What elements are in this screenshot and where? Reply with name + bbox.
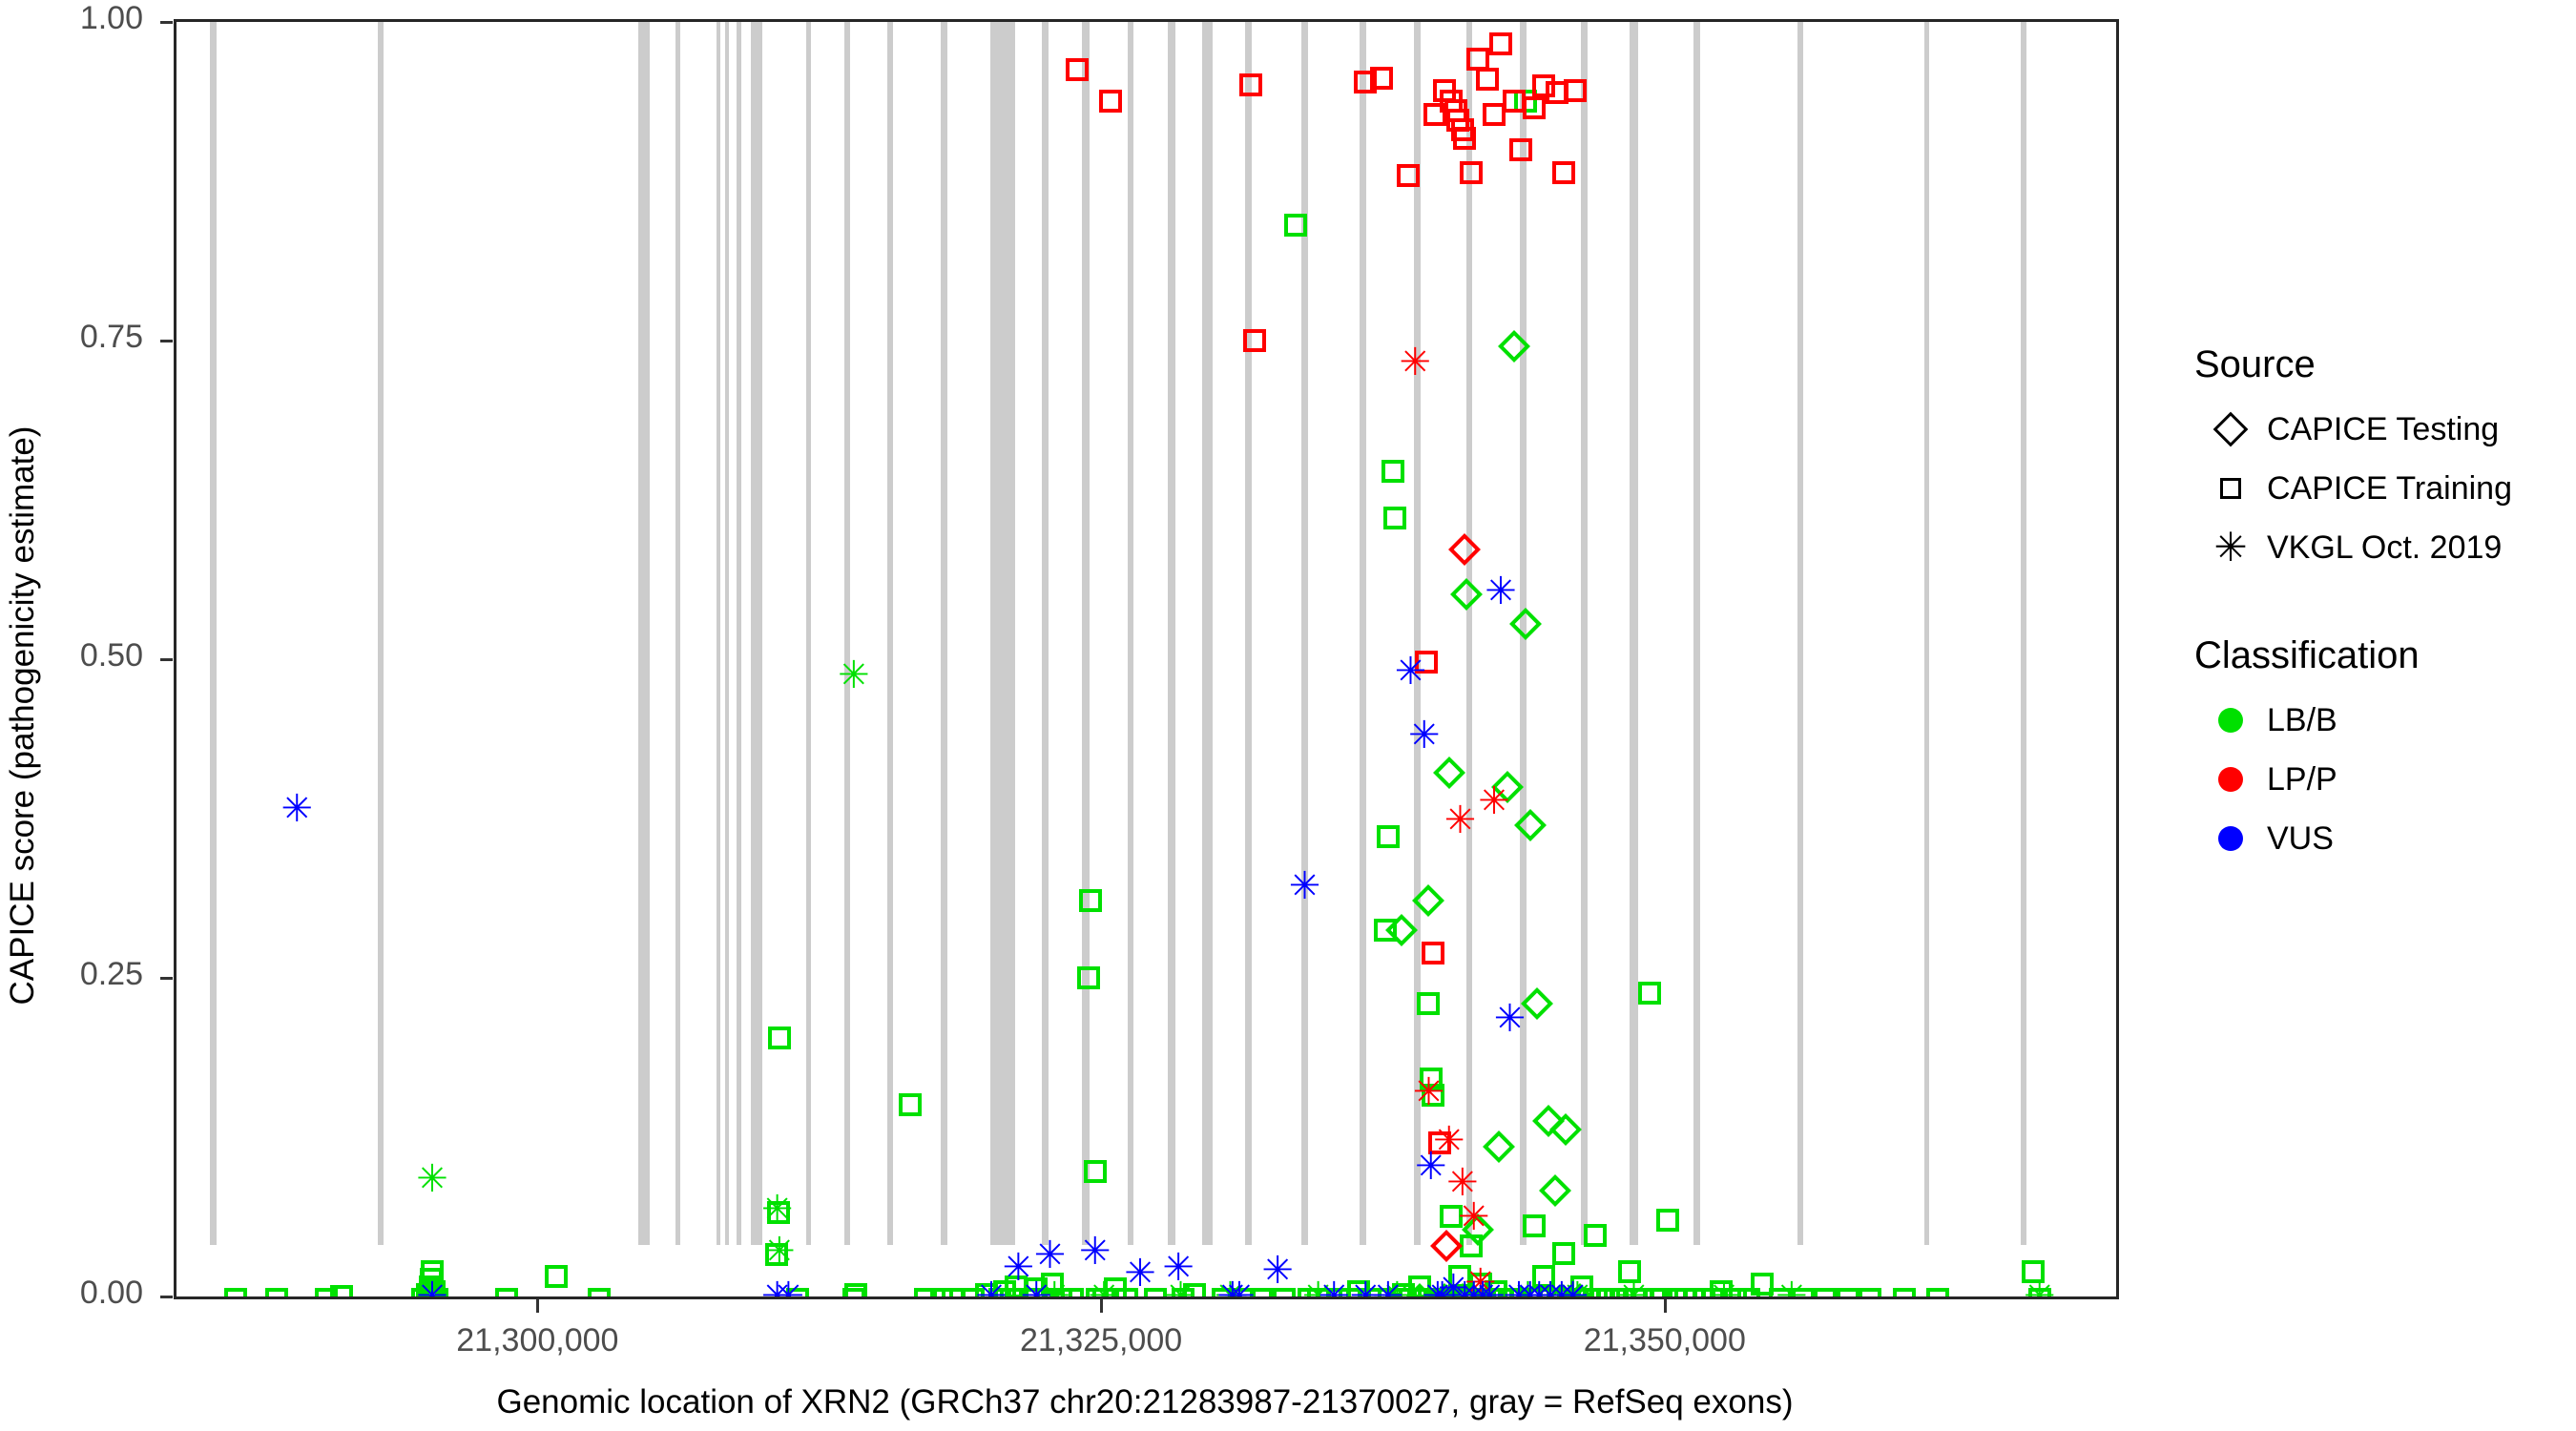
y-tick-label: 0.75 xyxy=(0,319,143,356)
legend-item-source[interactable]: ✳VKGL Oct. 2019 xyxy=(2194,518,2576,577)
point-asterisk: ✳ xyxy=(760,1233,799,1271)
x-tick-label: 21,350,000 xyxy=(1522,1322,1808,1359)
point-diamond xyxy=(1448,533,1481,566)
legend-key xyxy=(2194,478,2267,499)
point-square xyxy=(1284,214,1307,237)
legend-item-label: VKGL Oct. 2019 xyxy=(2267,529,2502,567)
point-asterisk: ✳ xyxy=(769,1277,807,1299)
legend-key xyxy=(2194,417,2267,442)
y-tick-mark xyxy=(160,977,173,980)
legend-key xyxy=(2194,826,2267,851)
point-square xyxy=(1489,32,1512,55)
legend-item-source[interactable]: CAPICE Training xyxy=(2194,459,2576,518)
point-diamond xyxy=(1433,757,1465,789)
point-square xyxy=(1243,329,1266,352)
point-square xyxy=(1370,67,1393,90)
y-tick-label: 1.00 xyxy=(0,0,143,37)
point-square xyxy=(1453,127,1476,150)
point-asterisk: ✳ xyxy=(1554,1277,1592,1299)
exon-band xyxy=(751,22,762,1245)
point-asterisk: ✳ xyxy=(1441,801,1479,840)
exon-band xyxy=(1202,22,1213,1245)
point-asterisk: ✳ xyxy=(1285,867,1323,905)
point-asterisk: ✳ xyxy=(1614,1277,1652,1299)
exon-band xyxy=(1630,22,1638,1245)
point-square xyxy=(1584,1224,1607,1247)
legend-item-label: CAPICE Testing xyxy=(2267,411,2499,448)
y-axis-title: CAPICE score (pathogenicity estimate) xyxy=(0,0,46,1431)
legend-item-label: LP/P xyxy=(2267,761,2337,798)
legend-item-label: VUS xyxy=(2267,820,2334,858)
point-asterisk: ✳ xyxy=(413,1277,451,1299)
exon-band xyxy=(210,22,217,1245)
color-dot-icon xyxy=(2218,767,2243,792)
point-asterisk: ✳ xyxy=(1412,1148,1450,1186)
x-tick-mark xyxy=(536,1299,539,1313)
exon-band xyxy=(1581,22,1588,1245)
point-asterisk: ✳ xyxy=(758,1191,796,1229)
y-tick-label: 0.50 xyxy=(0,637,143,674)
point-asterisk: ✳ xyxy=(1409,1073,1447,1111)
exon-band xyxy=(844,22,850,1245)
exon-band xyxy=(1360,22,1366,1245)
y-tick-mark xyxy=(160,340,173,342)
x-tick-label: 21,325,000 xyxy=(958,1322,1244,1359)
point-square xyxy=(1476,68,1499,91)
legend-item-classification[interactable]: LB/B xyxy=(2194,691,2576,750)
point-diamond xyxy=(1483,1130,1515,1163)
point-square xyxy=(1638,982,1661,1005)
exon-band xyxy=(1082,22,1090,1245)
point-square xyxy=(224,1288,247,1299)
point-square xyxy=(1383,507,1406,529)
point-asterisk: ✳ xyxy=(1085,1277,1123,1299)
point-square xyxy=(1417,992,1440,1015)
point-square xyxy=(330,1285,353,1299)
y-tick-mark xyxy=(160,1296,173,1298)
point-square xyxy=(1377,825,1400,848)
point-asterisk: ✳ xyxy=(1482,572,1520,611)
exon-band xyxy=(1797,22,1803,1245)
point-square xyxy=(1381,460,1404,483)
point-square xyxy=(1509,138,1532,161)
legend: Source CAPICE TestingCAPICE Training✳VKG… xyxy=(2194,343,2576,868)
legend-item-label: LB/B xyxy=(2267,702,2337,739)
exon-band xyxy=(1466,22,1472,1245)
legend-item-classification[interactable]: VUS xyxy=(2194,809,2576,868)
point-square xyxy=(1814,1288,1837,1299)
point-diamond xyxy=(1514,809,1547,841)
exon-band xyxy=(717,22,720,1245)
point-asterisk: ✳ xyxy=(1773,1277,1811,1299)
point-square xyxy=(1397,164,1420,187)
exon-band xyxy=(1301,22,1307,1245)
legend-spacer xyxy=(2194,577,2576,634)
point-asterisk: ✳ xyxy=(1220,1277,1258,1299)
legend-item-source[interactable]: CAPICE Testing xyxy=(2194,400,2576,459)
point-square xyxy=(1552,161,1575,184)
asterisk-icon: ✳ xyxy=(2213,528,2247,568)
exon-band xyxy=(378,22,384,1245)
exon-band xyxy=(638,22,649,1245)
point-square xyxy=(1460,161,1483,184)
exon-band xyxy=(725,22,729,1245)
x-axis-title: Genomic location of XRN2 (GRCh37 chr20:2… xyxy=(0,1383,2290,1421)
y-tick-label: 0.25 xyxy=(0,956,143,993)
point-asterisk: ✳ xyxy=(1490,1000,1528,1038)
color-dot-icon xyxy=(2218,826,2243,851)
point-square xyxy=(1893,1288,1916,1299)
point-asterisk: ✳ xyxy=(835,656,873,695)
exon-band xyxy=(675,22,681,1245)
point-square xyxy=(1099,90,1122,113)
point-diamond xyxy=(1539,1174,1571,1207)
legend-title-source: Source xyxy=(2194,343,2576,386)
y-tick-mark xyxy=(160,658,173,661)
exon-band xyxy=(1128,22,1133,1245)
x-tick-label: 21,300,000 xyxy=(394,1322,680,1359)
exon-band xyxy=(1168,22,1175,1245)
point-asterisk: ✳ xyxy=(1030,1236,1069,1275)
point-square xyxy=(1564,79,1587,102)
point-square xyxy=(545,1265,568,1288)
legend-key xyxy=(2194,767,2267,792)
point-asterisk: ✳ xyxy=(1475,782,1513,820)
point-asterisk: ✳ xyxy=(413,1160,451,1198)
legend-item-classification[interactable]: LP/P xyxy=(2194,750,2576,809)
y-tick-mark xyxy=(160,21,173,24)
point-square xyxy=(1079,889,1102,912)
plot-panel: ✳✳✳✳✳✳✳✳✳✳✳✳✳✳✳✳✳✳✳✳✳✳✳✳✳✳✳✳✳✳✳✳✳✳✳✳✳✳✳✳… xyxy=(174,19,2119,1299)
point-asterisk: ✳ xyxy=(1017,1277,1055,1299)
point-asterisk: ✳ xyxy=(1455,1198,1493,1236)
point-asterisk: ✳ xyxy=(278,790,316,828)
point-square xyxy=(1656,1209,1679,1232)
point-square xyxy=(588,1288,611,1299)
point-asterisk: ✳ xyxy=(1396,343,1434,382)
exon-band xyxy=(737,22,741,1245)
point-asterisk: ✳ xyxy=(1369,1277,1407,1299)
legend-key xyxy=(2194,708,2267,733)
exon-band xyxy=(1042,22,1049,1245)
point-square xyxy=(1422,942,1444,964)
color-dot-icon xyxy=(2218,708,2243,733)
point-square xyxy=(1077,966,1100,989)
exon-band xyxy=(1414,22,1421,1245)
point-asterisk: ✳ xyxy=(2021,1277,2059,1299)
legend-key: ✳ xyxy=(2194,528,2267,568)
chart-root: CAPICE score (pathogenicity estimate) 0.… xyxy=(0,0,2576,1431)
square-icon xyxy=(2220,478,2241,499)
point-square xyxy=(844,1283,867,1299)
point-square xyxy=(768,1027,791,1049)
legend-classification-items: LB/BLP/PVUS xyxy=(2194,691,2576,868)
exon-band xyxy=(1693,22,1700,1245)
point-square xyxy=(1523,1214,1546,1237)
exon-band xyxy=(806,22,812,1245)
exon-band xyxy=(941,22,947,1245)
point-square xyxy=(1552,1242,1575,1265)
point-square xyxy=(1239,73,1262,96)
x-tick-mark xyxy=(1664,1299,1667,1313)
diamond-icon xyxy=(2213,412,2249,447)
point-square xyxy=(1926,1288,1949,1299)
exon-band xyxy=(1924,22,1930,1245)
point-diamond xyxy=(1451,578,1484,611)
exon-band xyxy=(2021,22,2026,1245)
exon-band xyxy=(887,22,893,1245)
point-asterisk: ✳ xyxy=(1121,1255,1159,1293)
point-square xyxy=(1859,1288,1881,1299)
point-asterisk: ✳ xyxy=(1705,1277,1743,1299)
exon-band xyxy=(1245,22,1252,1245)
point-square xyxy=(265,1288,288,1299)
point-asterisk: ✳ xyxy=(1391,653,1429,691)
point-square xyxy=(1837,1288,1859,1299)
point-asterisk: ✳ xyxy=(1405,716,1444,755)
point-square xyxy=(899,1093,922,1116)
point-square xyxy=(1066,58,1089,81)
x-tick-mark xyxy=(1100,1299,1103,1313)
point-square xyxy=(495,1288,518,1299)
exon-band xyxy=(990,22,1015,1245)
legend-title-classification: Classification xyxy=(2194,634,2576,677)
point-square xyxy=(1523,96,1546,119)
point-asterisk: ✳ xyxy=(1159,1249,1197,1287)
y-tick-label: 0.00 xyxy=(0,1275,143,1312)
point-square xyxy=(1084,1160,1107,1183)
point-asterisk: ✳ xyxy=(1076,1233,1114,1271)
point-asterisk: ✳ xyxy=(1258,1252,1297,1290)
legend-source-items: CAPICE TestingCAPICE Training✳VKGL Oct. … xyxy=(2194,400,2576,577)
legend-item-label: CAPICE Training xyxy=(2267,470,2512,508)
